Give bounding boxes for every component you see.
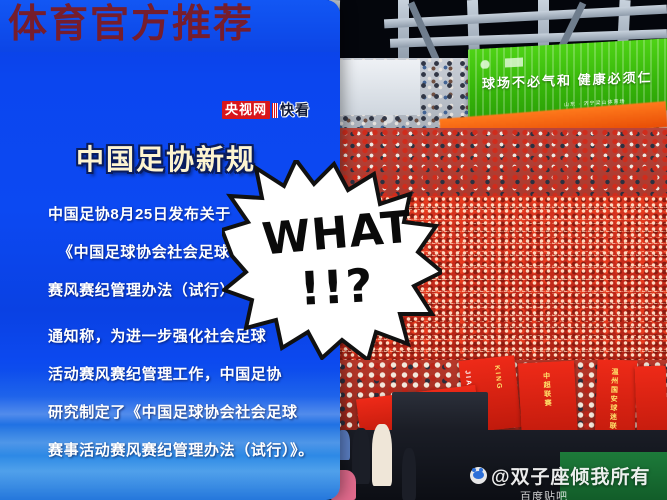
watermark: @双子座倾我所有 <box>470 462 651 489</box>
promo-banner-text: 体育官方推荐 <box>8 2 332 48</box>
baidu-paw-icon <box>470 467 487 484</box>
spectator <box>372 424 392 486</box>
body-line: 赛事活动赛风赛纪管理办法（试行）》。 <box>48 432 340 470</box>
body-line: 研究制定了《中国足球协会社会足球 <box>48 394 340 432</box>
broadcaster-logo: 央视网 快看 <box>222 100 310 120</box>
spectator <box>402 448 416 500</box>
watermark-subtext: 百度贴吧 <box>520 488 568 500</box>
burst-marks: !!? <box>261 256 414 318</box>
roof-strut <box>408 1 440 60</box>
image-canvas: 球场不必气和 健康必须仁 山东 · 济宁梁山体育场 JIANG KING 中超联… <box>0 0 667 500</box>
roof-beam <box>398 0 409 62</box>
flag-label: KING <box>493 365 503 391</box>
green-banner-text: 球场不必气和 健康必须仁 <box>482 66 663 92</box>
vertical-bars-icon <box>272 103 278 118</box>
flag-label: 中超联赛 <box>540 372 552 408</box>
comic-burst: WHAT !!? <box>222 160 442 360</box>
banner-logo-icon <box>479 57 525 69</box>
cctv-brand-box: 央视网 <box>222 101 270 119</box>
body-line: 活动赛风赛纪管理工作，中国足协 <box>48 356 340 394</box>
kuaikan-brand-text: 快看 <box>280 100 310 120</box>
watermark-handle: @双子座倾我所有 <box>491 462 651 489</box>
